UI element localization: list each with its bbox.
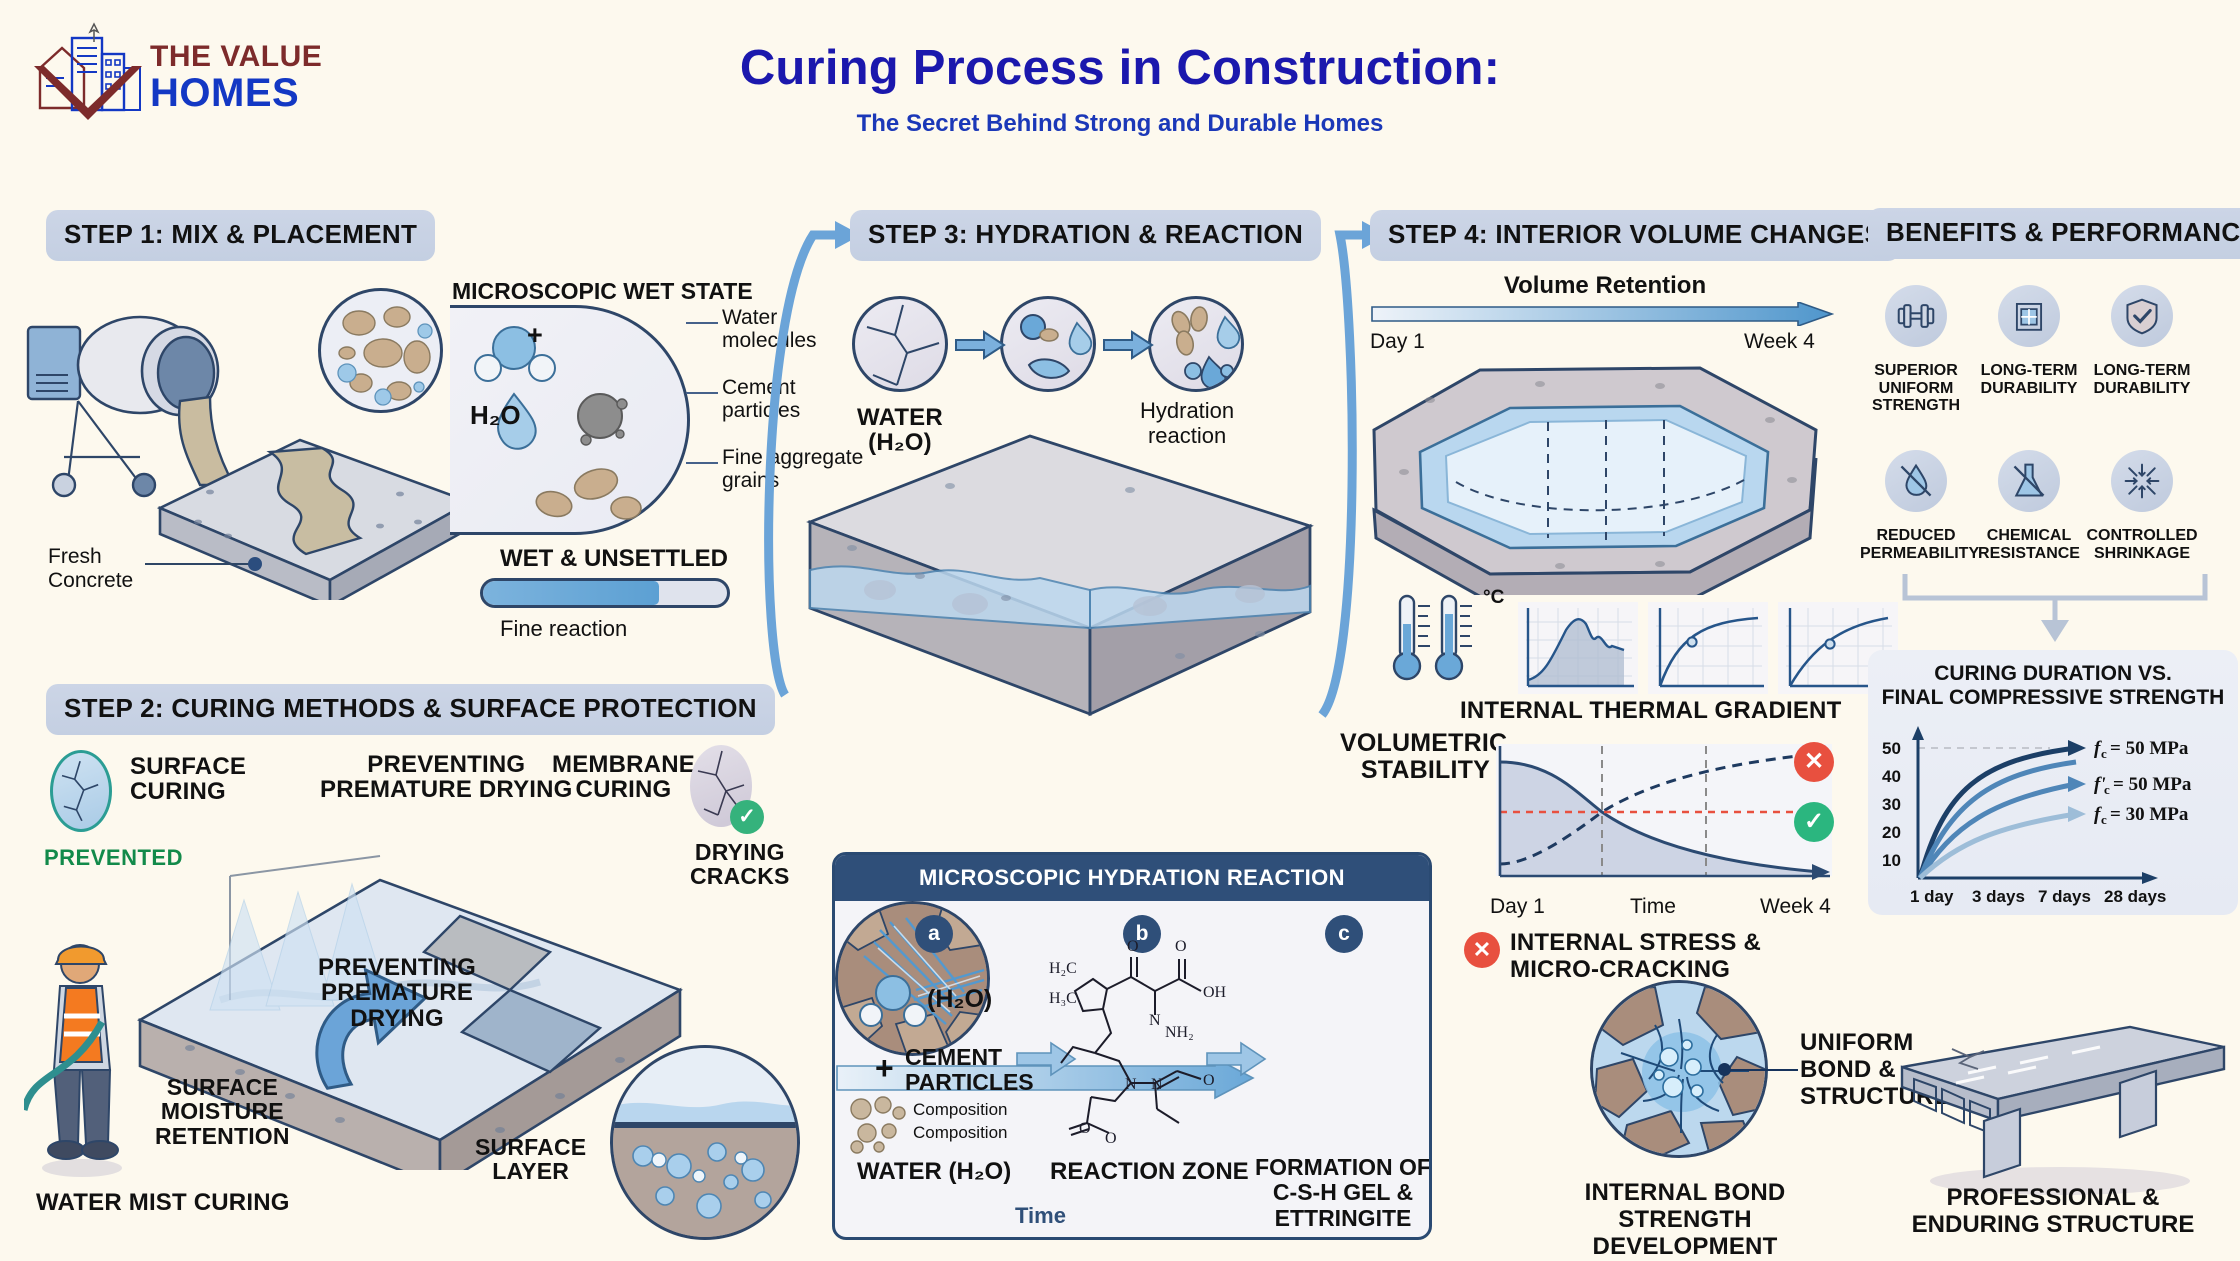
svg-text:20: 20 [1882, 823, 1901, 842]
surface-moisture-retention-label: SURFACE MOISTURE RETENTION [155, 1075, 290, 1148]
concrete-block-cutaway [800, 430, 1320, 730]
svg-text:H₃C: H₃C [1049, 990, 1077, 1007]
benefit-label-1: LONG-TERM DURABILITY [1973, 362, 2085, 397]
cement-particle-cluster-icon [849, 1095, 911, 1155]
fresh-concrete-dot [248, 557, 262, 571]
surface-bubbles-icon [613, 1048, 800, 1240]
benefit-label-0: SUPERIOR UNIFORM STRENGTH [1860, 362, 1972, 415]
cracked-surface-icon [855, 299, 948, 392]
benefit-label-2: LONG-TERM DURABILITY [2086, 362, 2198, 397]
svg-text:10: 10 [1882, 851, 1901, 870]
svg-text:1 day: 1 day [1910, 887, 1954, 906]
section-header-benefits: BENEFITS & PERFORMANCE [1868, 208, 2240, 259]
internal-stress-x-badge: ✕ [1464, 932, 1500, 968]
svg-text:N: N [1149, 1012, 1161, 1029]
water-mist-curing-label: WATER MIST CURING [36, 1190, 290, 1215]
reaction-stage-hydration-icon [1148, 296, 1244, 392]
volumetric-stability-label: VOLUMETRIC STABILITY [1340, 730, 1490, 783]
surface-crack-icon [50, 750, 112, 832]
stage-arrow-1-icon [954, 330, 1006, 360]
curing-duration-chart: 5040302010 fc = 50 MPa f'c = 50 MPa fc =… [1880, 718, 2230, 906]
dumbbell-glyph [1896, 296, 1936, 336]
no-water-drop-glyph [1896, 461, 1936, 501]
h2o-label-step1: H₂O [470, 400, 521, 431]
svg-text:O: O [1127, 938, 1139, 955]
building-window-glyph [2010, 297, 2048, 335]
worker-illustration [24, 930, 144, 1180]
vs-time-label: Time [1630, 895, 1676, 919]
thermometer-icon [1390, 590, 1480, 690]
volume-day1-label: Day 1 [1370, 330, 1425, 354]
title-sub: The Secret Behind Strong and Durable Hom… [0, 110, 2240, 138]
wet-progress-fill [483, 581, 659, 605]
vs-day1-label: Day 1 [1490, 895, 1545, 919]
leader-cement [686, 392, 718, 394]
section-header-step2: STEP 2: CURING METHODS & SURFACE PROTECT… [46, 684, 775, 735]
surface-curing-label: SURFACE CURING [130, 754, 246, 805]
benefit-label-4: CHEMICAL RESISTANCE [1973, 527, 2085, 562]
uniform-bond-leader [1730, 1069, 1798, 1071]
drying-cracks-label: DRYING CRACKS [690, 840, 790, 889]
svg-text:OH: OH [1203, 984, 1227, 1001]
svg-text:40: 40 [1882, 767, 1901, 786]
degree-celsius-label: °C [1483, 587, 1504, 609]
water-cement-mixing-icon [1003, 299, 1096, 392]
mh-plus-sign: + [875, 1050, 894, 1087]
leader-water [686, 322, 718, 324]
svg-text:O: O [1105, 1130, 1117, 1147]
svg-text:O: O [1079, 1120, 1091, 1137]
title-main: Curing Process in Construction: [0, 40, 2240, 96]
microscopic-hydration-panel: MICROSCOPIC HYDRATION REACTION a b c (H₂… [832, 852, 1432, 1240]
benefit-label-5: CONTROLLED SHRINKAGE [2086, 527, 2198, 562]
internal-thermal-gradient-caption: INTERNAL THERMAL GRADIENT [1460, 698, 1841, 723]
bridge-caption: PROFESSIONAL & ENDURING STRUCTURE [1868, 1185, 2238, 1239]
svg-text:N: N [1151, 1076, 1163, 1093]
svg-text:O: O [1175, 938, 1187, 955]
svg-text:NH₂: NH₂ [1165, 1024, 1194, 1041]
mh-formation-label: FORMATION OF C-S-H GEL & ETTRINGITE [1253, 1155, 1432, 1231]
svg-text:7 days: 7 days [2038, 887, 2091, 906]
compress-arrows-glyph [2122, 461, 2162, 501]
wet-unsettled-title: WET & UNSETTLED [500, 545, 728, 573]
surface-layer-label: SURFACE LAYER [475, 1135, 586, 1184]
section-header-step3: STEP 3: HYDRATION & REACTION [850, 210, 1321, 261]
wet-progress-bar [480, 578, 730, 608]
reaction-stage-mixing-icon [1000, 296, 1096, 392]
svg-text:28 days: 28 days [2104, 887, 2166, 906]
hydration-products-icon [1151, 299, 1244, 392]
mh-reaction-zone-label: REACTION ZONE [1050, 1158, 1249, 1186]
surface-layer-zoom-circle [610, 1045, 800, 1240]
svg-text:30: 30 [1882, 795, 1901, 814]
stage-badge-a: a [915, 915, 953, 953]
no-flask-glyph [2009, 461, 2049, 501]
svg-text:N: N [1125, 1076, 1137, 1093]
water-molecule-icon [859, 973, 929, 1031]
thermal-chart-2 [1648, 602, 1768, 694]
chemical-structure-diagram: H₂CH₃C OO NOH NH₂ NN OOO [1045, 933, 1245, 1148]
svg-text:= 30 MPa: = 30 MPa [2110, 804, 2189, 825]
drying-cracks-check-badge: ✓ [730, 800, 764, 834]
membrane-curing-label: MEMBRANE CURING [552, 752, 695, 803]
svg-text:= 50 MPa: = 50 MPa [2113, 774, 2192, 795]
fresh-concrete-slab [150, 430, 480, 600]
aggregate-grains-icon [321, 291, 443, 413]
svg-text:H₂C: H₂C [1049, 960, 1077, 977]
stage-arrow-2-icon [1102, 330, 1154, 360]
time-arrow-label: Time [1015, 1203, 1066, 1229]
svg-text:c: c [2101, 812, 2107, 827]
vs-week4-label: Week 4 [1760, 895, 1831, 919]
no-water-drop-icon [1885, 450, 1947, 512]
no-flask-icon [1998, 450, 2060, 512]
svg-text:50: 50 [1882, 739, 1901, 758]
compress-arrows-icon [2111, 450, 2173, 512]
building-window-icon [1998, 285, 2060, 347]
volumetric-stability-chart [1490, 740, 1835, 890]
preventing-premature-drying-label: PREVENTING PREMATURE DRYING [320, 752, 573, 803]
fresh-concrete-leader [145, 563, 250, 565]
thermal-chart-1 [1518, 602, 1638, 694]
fine-reaction-caption: Fine reaction [500, 616, 627, 642]
svg-text:c: c [2104, 782, 2110, 797]
section-header-step1: STEP 1: MIX & PLACEMENT [46, 210, 435, 261]
vs-x-badge: ✕ [1794, 742, 1834, 782]
plus-sign-step1: + [527, 320, 543, 351]
microscopic-wet-state-title: MICROSCOPIC WET STATE [452, 278, 753, 305]
reaction-stage-cracked-icon [852, 296, 948, 392]
page-title: Curing Process in Construction: The Secr… [0, 40, 2240, 138]
aggregate-zoom-circle [318, 288, 443, 413]
benefit-label-3: REDUCED PERMEABILITY [1860, 527, 1972, 562]
svg-text:c: c [2101, 746, 2107, 761]
shield-check-glyph [2122, 296, 2162, 336]
section-header-step4: STEP 4: INTERIOR VOLUME CHANGES [1370, 210, 1900, 261]
preventing-premature-drying-label-2: PREVENTING PREMATURE DRYING [318, 955, 476, 1031]
volume-disc-illustration [1360, 360, 1835, 595]
dumbbell-icon [1885, 285, 1947, 347]
internal-bond-caption: INTERNAL BOND STRENGTH DEVELOPMENT [1540, 1180, 1830, 1261]
benefits-brace-arrow [1895, 570, 2215, 645]
mh-water-label: WATER (H₂O) [857, 1158, 1011, 1186]
fresh-concrete-label: Fresh Concrete [48, 545, 133, 593]
internal-stress-label: INTERNAL STRESS & MICRO-CRACKING [1510, 930, 1761, 984]
curing-duration-chart-title: CURING DURATION VS. FINAL COMPRESSIVE ST… [1868, 662, 2238, 710]
shield-check-icon [2111, 285, 2173, 347]
svg-text:= 50 MPa: = 50 MPa [2110, 738, 2189, 759]
vs-check-badge: ✓ [1794, 802, 1834, 842]
volume-retention-arrow [1368, 302, 1834, 326]
svg-text:3 days: 3 days [1972, 887, 2025, 906]
mh-composition-label-1: Composition [913, 1100, 1008, 1120]
volume-retention-title: Volume Retention [1370, 272, 1840, 300]
volume-week4-label: Week 4 [1744, 330, 1815, 354]
mh-h2o-label: (H₂O) [927, 985, 992, 1014]
mh-composition-label-2: Composition [913, 1123, 1008, 1143]
bridge-illustration [1880, 1025, 2230, 1205]
crack-lines-icon [53, 753, 109, 829]
stage-badge-c: c [1325, 915, 1363, 953]
svg-text:O: O [1203, 1072, 1215, 1089]
leader-aggregate [686, 462, 718, 464]
microscopic-hydration-title: MICROSCOPIC HYDRATION REACTION [835, 855, 1429, 901]
